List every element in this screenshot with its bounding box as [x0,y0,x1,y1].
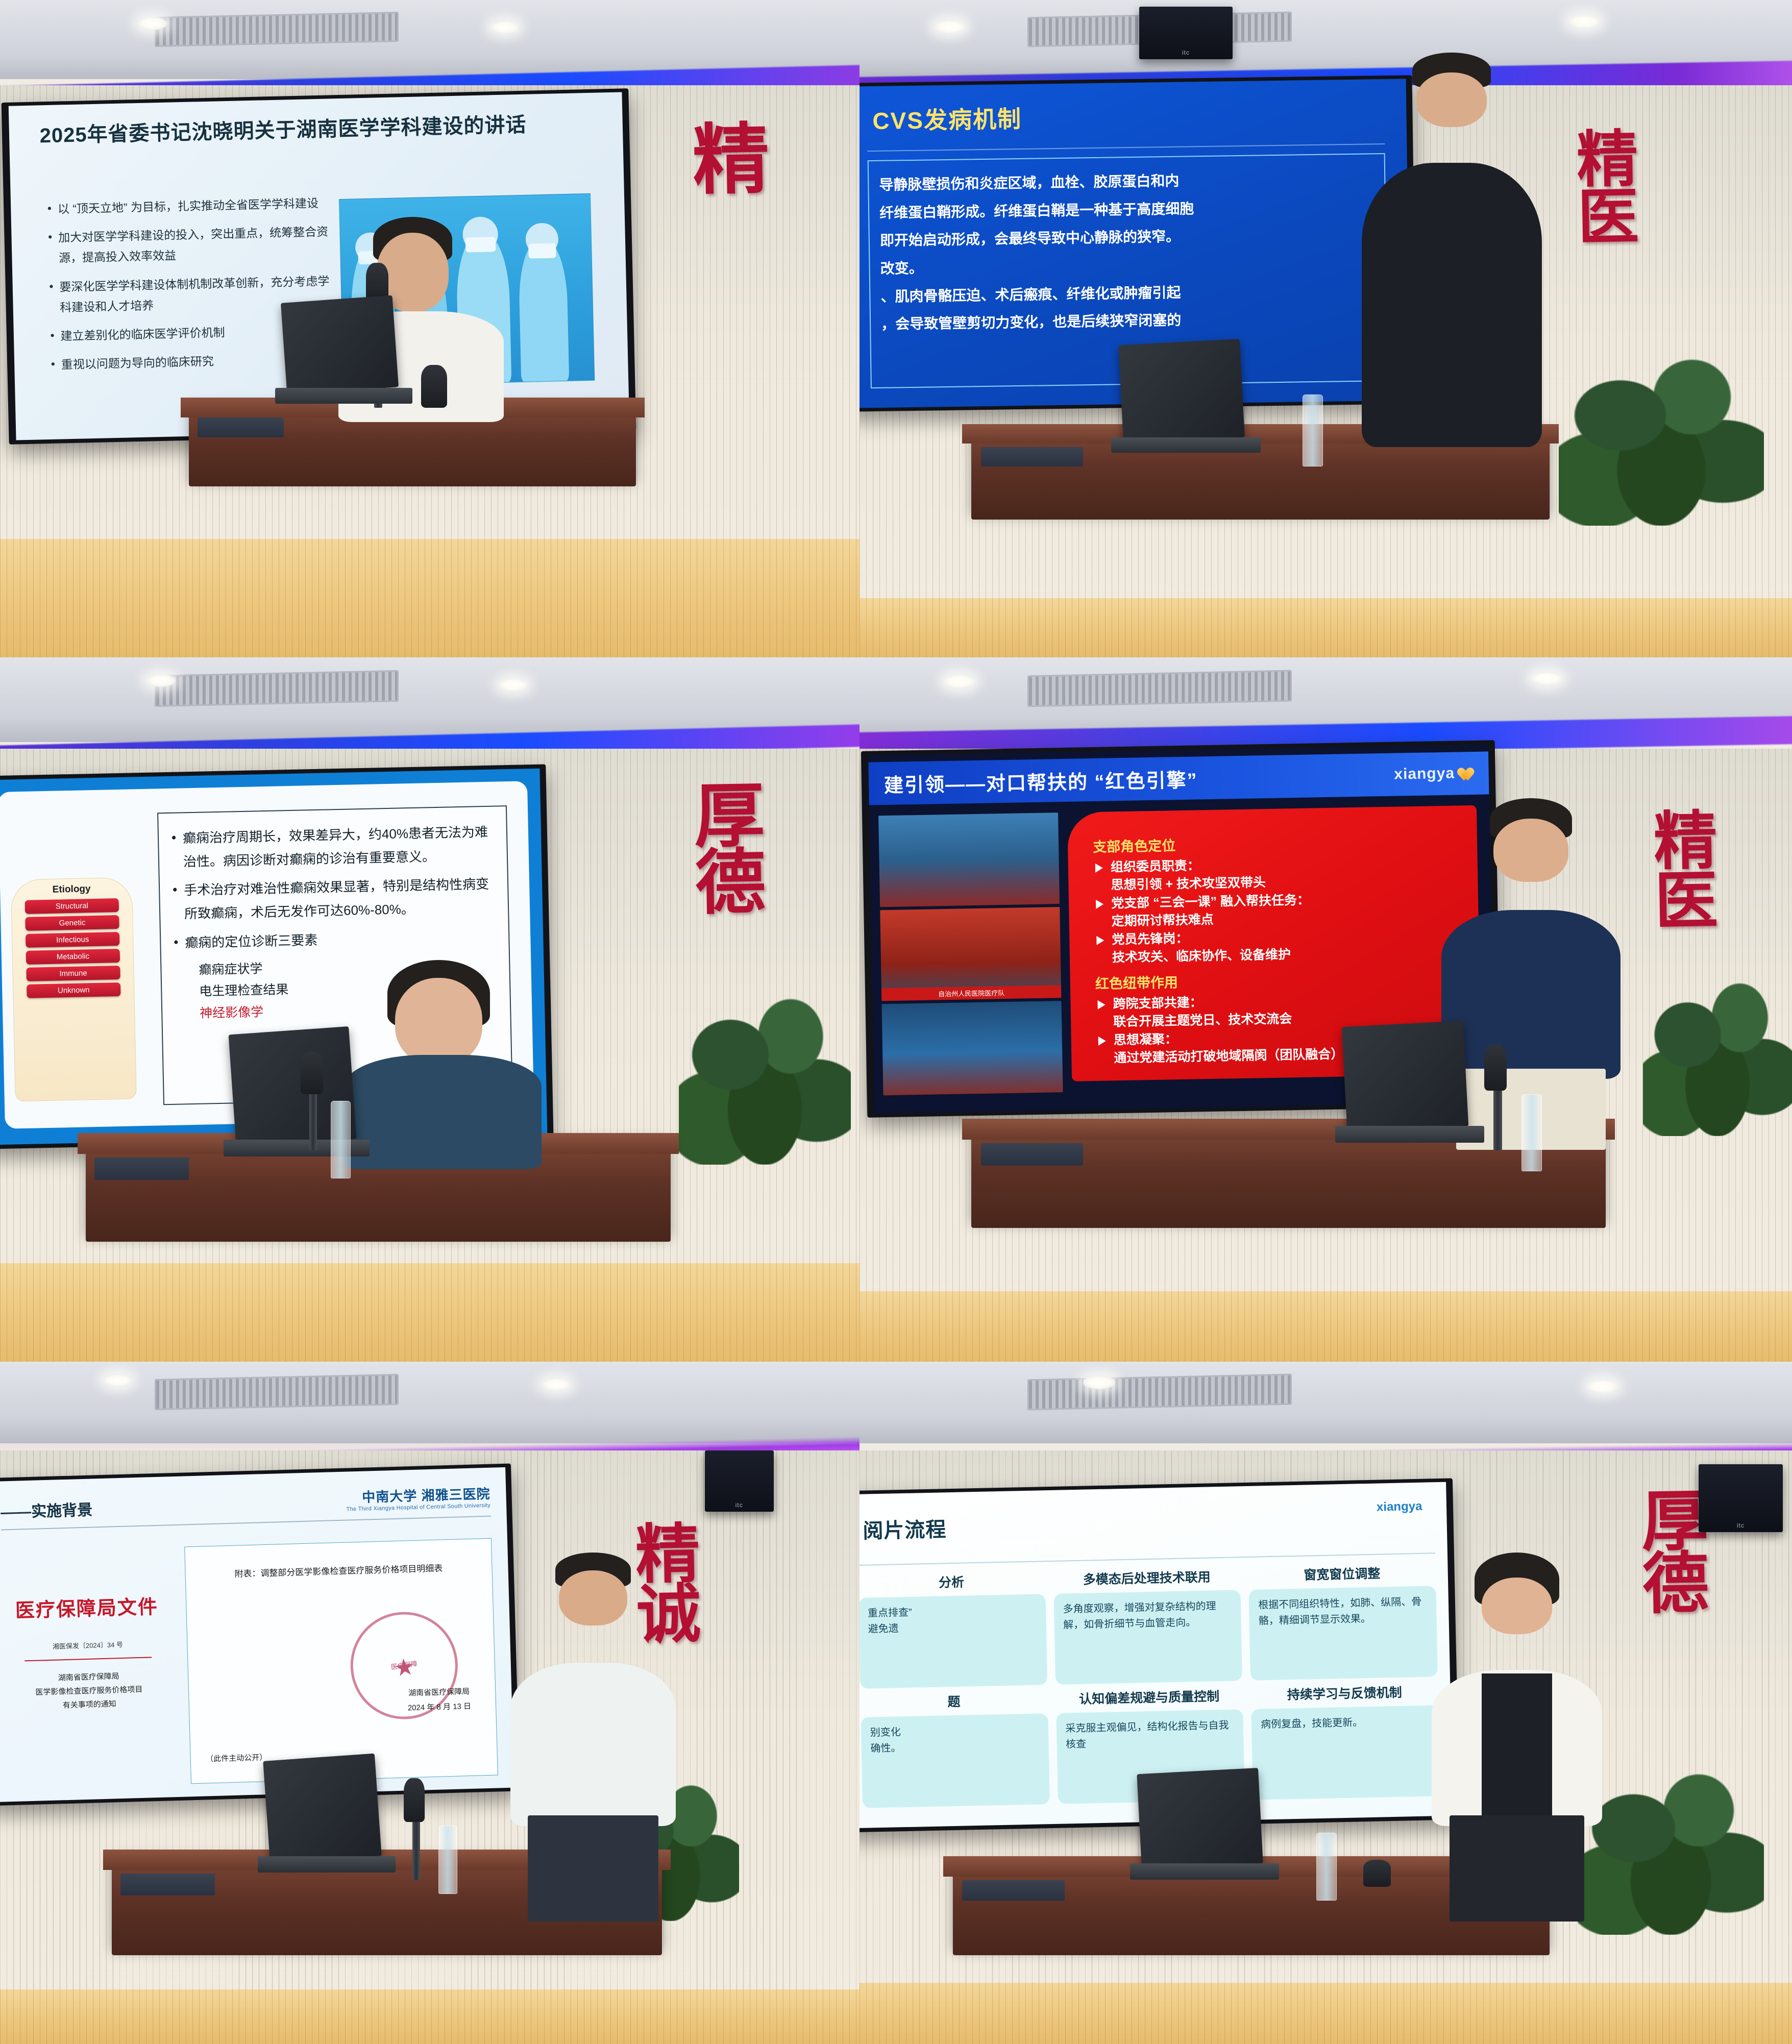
person-speaker [344,960,542,1157]
speaker-brand-label: itc [1182,49,1190,59]
speaker-brand-label: itc [735,1501,743,1512]
workflow-card: 重点排查” 避免遗 [860,1594,1047,1688]
downlight-icon [1587,1380,1618,1393]
panel-4-photo: 精 医 建引领——对口帮扶的 “红色引擎” xiangya 自治州人民医院医疗队 [860,657,1792,1362]
downlight-icon [1083,1375,1115,1389]
star-icon: ★ [391,1646,418,1688]
etiology-group: Etiology Structural Genetic Infectious M… [11,877,137,1101]
panel-6-photo: 厚 德 itc 阅片流程 xiangya 分析 多模态后处理技术联用 窗宽窗位调… [860,1362,1792,2044]
panel-1-photo: 精 2025年省委书记沈晓明关于湖南医学学科建设的讲话 以 “顶天立地” 为目标… [0,0,860,657]
column-heading: 题 [861,1690,1048,1712]
paragraph: 导静脉壁损伤和炎症区域，血栓、胶原蛋白和内 [868,154,1384,200]
ceiling [860,1362,1792,1443]
laptop-screen[interactable] [1118,339,1244,444]
etiology-tag: Infectious [26,932,120,948]
xiangya-logo-text: xiangya [1377,1499,1422,1514]
laptop-screen[interactable] [1342,1021,1468,1132]
list-item: 以 “顶天立地” 为目标，扎实推动全省医学学科建设 [47,192,336,219]
wall-calligraphy: 精 [692,124,770,198]
photo-thumb [878,812,1060,907]
list-item: 癫痫治疗周期长，效果差异大，约40%患者无法为难治性。病因诊断对癫痫的诊治有重要… [169,820,497,874]
laptop-screen[interactable] [263,1754,381,1863]
slide-6-workflow-grid: 分析 多模态后处理技术联用 窗宽窗位调整 重点排查” 避免遗 多角度观察，增强对… [860,1562,1440,1808]
document-body: 湖南省医疗保障局 医学影像检查医疗服务价格项目 有关事项的通知 [0,1668,178,1714]
warm-lit-wainscot [0,1989,860,2044]
downlight-icon [137,17,166,30]
heart-icon [1458,767,1473,781]
laptop-keyboard[interactable] [275,388,412,404]
microphone-icon[interactable] [1363,1860,1391,1887]
collage-panel-6: 厚 德 itc 阅片流程 xiangya 分析 多模态后处理技术联用 窗宽窗位调… [860,1362,1792,2044]
section-label: ——实施背景 [1,1497,93,1522]
etiology-tag: Immune [26,966,120,981]
person-speaker [507,1553,679,1907]
downlight-icon [499,678,528,691]
panel-5-photo: 精 诚 itc ——实施背景 中南大学 湘雅三医院 The Third Xian… [0,1362,860,2044]
microphone-icon[interactable] [421,365,447,408]
etiology-tag: Unknown [27,982,121,998]
list-item: 加大对医学学科建设的投入，突出重点，统筹整合资源，提高投入效率效益 [48,221,337,268]
slide-5-document-left: 医疗保障局文件 湘医保发〔2024〕34 号 湖南省医疗保障局 医学影像检查医疗… [0,1541,181,1789]
etiology-label: Etiology [11,882,132,896]
divider [867,143,1385,152]
column-heading: 分析 [860,1570,1045,1593]
downlight-icon [1568,14,1600,28]
slide-5: ——实施背景 中南大学 湘雅三医院 The Third Xiangya Hosp… [0,1467,514,1802]
xiangya-logo: xiangya [1394,764,1473,783]
laptop-keyboard[interactable] [1130,1863,1279,1880]
warm-lit-wainscot [860,1291,1792,1362]
section-heading: 红色纽带作用 [1095,966,1461,993]
slide-5-attachment-box: 附表：调整部分医学影像检查医疗服务价格项目明细表 ★ 医疗保障 湖南省医疗保障局… [184,1538,498,1784]
wall-calligraphy: 精 医 [1576,131,1639,248]
slide-4-title: 建引领——对口帮扶的 “红色引擎” [884,764,1198,797]
xiangya-logo-text: xiangya [1394,765,1455,782]
list-item: 手术治疗对难治性癫痫效果显著，特别是结构性病变所致癫痫，术后无发作可达60%-8… [170,872,498,926]
workflow-card: 别变化 确性。 [861,1713,1050,1808]
slide-6-title: 阅片流程 [863,1512,947,1543]
hospital-logo: 中南大学 湘雅三医院 The Third Xiangya Hospital of… [346,1484,491,1513]
ceiling-speaker: itc [705,1450,774,1512]
workflow-card: 多角度观察，增强对复杂结构的理解，如骨折细节与血管走向。 [1053,1590,1242,1684]
desk-control-plate [198,417,283,437]
projection-screen: ——实施背景 中南大学 湘雅三医院 The Third Xiangya Hosp… [0,1463,520,1806]
photo-thumb-with-banner: 自治州人民医院医疗队 [880,906,1061,1001]
desk-control-plate [981,1143,1084,1166]
document-number: 湘医保发〔2024〕34 号 [0,1638,177,1653]
ceiling [0,0,860,79]
stamp-signature: 湖南省医疗保障局 2024 年 8 月 13 日 [407,1685,472,1715]
microphone-icon[interactable] [404,1778,424,1823]
laptop-screen[interactable] [1137,1768,1263,1869]
stamp-org: 湖南省医疗保障局 [407,1685,471,1701]
potted-plant [1559,342,1764,526]
laptop-keyboard[interactable] [1335,1126,1484,1143]
collage-panel-2: 精 医 itc CVS发病机制 导静脉壁损伤和炎症区域，血栓、胶原蛋白和内 纤维… [860,0,1792,657]
warm-lit-wainscot [860,1983,1792,2044]
photo-collage: 精 2025年省委书记沈晓明关于湖南医学学科建设的讲话 以 “顶天立地” 为目标… [0,0,1792,2044]
potted-plant [1578,1757,1764,1935]
water-bottle [1303,395,1323,467]
divider [24,1657,152,1662]
warm-lit-wainscot [860,598,1792,657]
water-bottle [438,1826,457,1894]
ceiling-speaker: itc [1139,7,1233,59]
person-speaker [1428,1553,1605,1907]
stamp-date: 2024 年 8 月 13 日 [408,1700,472,1716]
water-bottle [1316,1833,1337,1901]
potted-plant [1643,967,1792,1136]
document-title: 医疗保障局文件 [0,1590,176,1623]
desk-control-plate [962,1880,1065,1901]
collage-panel-3: 厚 德 Etiology Structural Genetic Infectio… [0,657,860,1362]
desk-control-plate [981,447,1084,467]
panel-2-photo: 精 医 itc CVS发病机制 导静脉壁损伤和炎症区域，血栓、胶原蛋白和内 纤维… [860,0,1792,657]
ceiling [0,1362,860,1443]
speaker-brand-label: itc [1737,1522,1745,1532]
laptop-keyboard[interactable] [1111,437,1260,453]
workflow-card: 根据不同组织特性，如肺、纵隔、骨骼，精细调节显示效果。 [1249,1586,1438,1680]
potted-plant [679,981,851,1165]
desk-control-plate [120,1874,215,1895]
microphone-icon[interactable] [301,1052,323,1094]
list-item: 癫痫的定位诊断三要素 [171,924,498,955]
ceiling-speaker: itc [1699,1464,1782,1533]
mic-stem [412,1812,420,1880]
etiology-tag: Structural [25,898,119,914]
slide-2-title: CVS发病机制 [872,100,1022,136]
workflow-card: 病例复盘，技能更新。 [1251,1705,1440,1800]
water-bottle [331,1101,351,1178]
column-heading: 多模态后处理技术联用 [1053,1566,1240,1589]
column-heading: 认知偏差规避与质量控制 [1055,1686,1243,1708]
etiology-tag: Metabolic [26,949,120,965]
photo-thumb [881,1001,1063,1095]
slide-5-header: ——实施背景 中南大学 湘雅三医院 The Third Xiangya Hosp… [1,1484,491,1522]
slide-4-photo-column: 自治州人民医院医疗队 [878,812,1063,1095]
banner-text: 自治州人民医院医疗队 [881,985,1062,1001]
wall-calligraphy: 厚 德 [693,783,766,917]
warm-lit-wainscot [0,1263,860,1362]
person-speaker [1354,53,1550,447]
column-heading: 窗宽窗位调整 [1248,1562,1436,1585]
warm-lit-wainscot [0,539,860,657]
desk-control-plate [94,1158,189,1180]
laptop-keyboard[interactable] [258,1856,395,1873]
collage-panel-1: 精 2025年省委书记沈晓明关于湖南医学学科建设的讲话 以 “顶天立地” 为目标… [0,0,860,657]
column-heading: 持续学习与反馈机制 [1251,1682,1438,1704]
panel-3-photo: 厚 德 Etiology Structural Genetic Infectio… [0,657,860,1362]
slide-1-title: 2025年省委书记沈晓明关于湖南医学学科建设的讲话 [39,106,592,149]
collage-panel-4: 精 医 建引领——对口帮扶的 “红色引擎” xiangya 自治州人民医院医疗队 [860,657,1792,1362]
public-disclosure-note: （此件主动公开） [206,1752,267,1764]
collage-panel-5: 精 诚 itc ——实施背景 中南大学 湘雅三医院 The Third Xian… [0,1362,860,2044]
downlight-icon [1531,672,1562,685]
slide-4-title-band: 建引领——对口帮扶的 “红色引擎” xiangya [868,751,1489,805]
downlight-icon [146,674,175,687]
section-heading: 支部角色定位 [1093,829,1459,856]
divider [860,1552,1435,1565]
etiology-tag: Genetic [25,915,119,931]
downlight-icon [934,20,966,34]
downlight-icon [943,674,975,688]
water-bottle [1521,1094,1542,1172]
microphone-icon[interactable] [1484,1045,1507,1091]
wall-calligraphy: 精 医 [1653,812,1719,932]
mic-stem [1493,1080,1502,1150]
laptop-screen[interactable] [281,295,399,395]
attachment-label: 附表：调整部分医学影像检查医疗服务价格项目明细表 [201,1560,477,1580]
